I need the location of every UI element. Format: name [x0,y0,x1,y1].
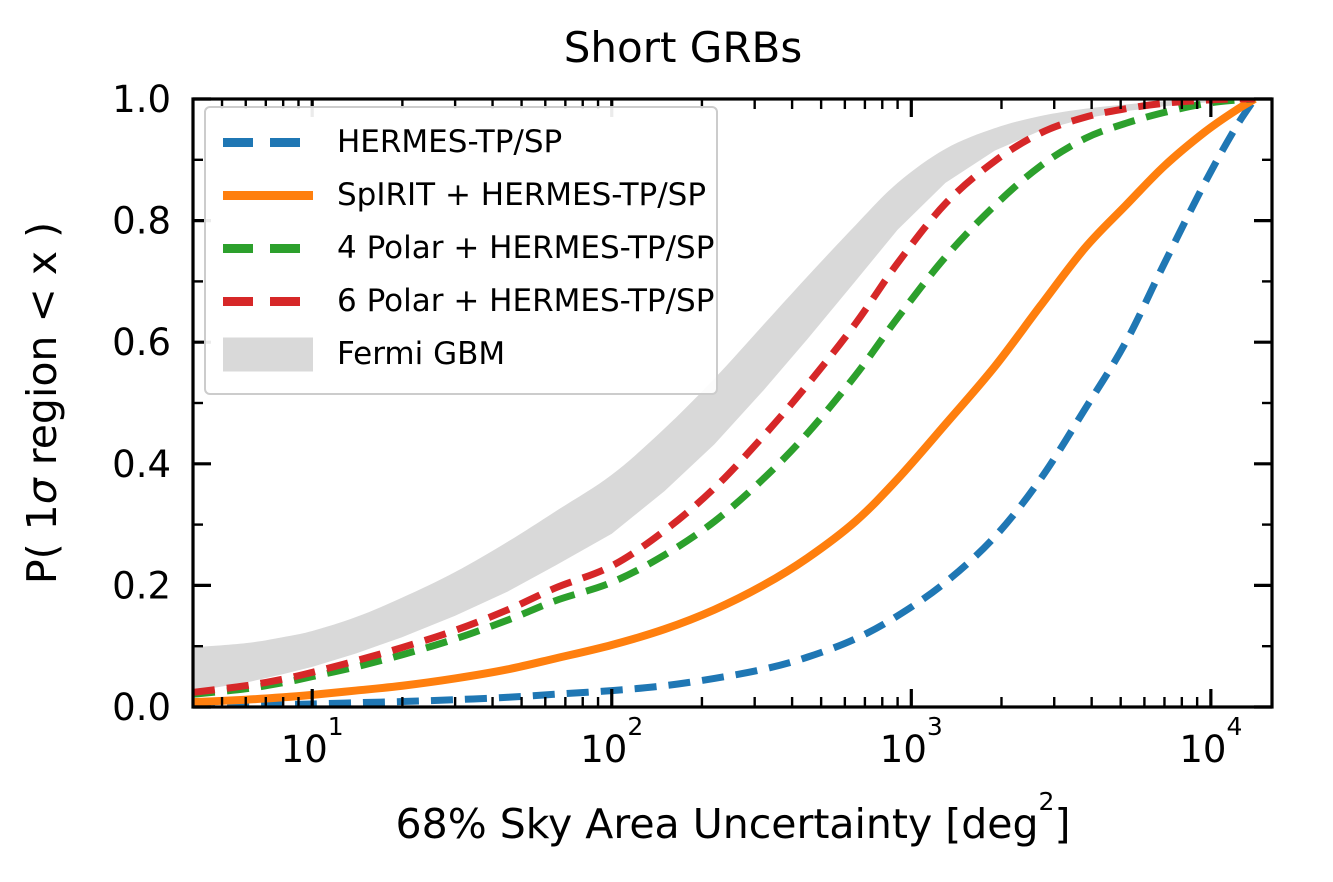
y-tick-label-2: 0.4 [112,443,171,486]
y-axis-label: P( 1σ region < x ) [18,222,66,584]
y-axis-label-pre: P( 1 [18,504,66,584]
legend-swatch-band-4 [223,338,313,372]
x-axis-label-text: 68% Sky Area Uncertainty [deg [396,800,1039,848]
y-axis-label-sigma: σ [18,476,66,504]
x-axis-label-exponent: 2 [1039,787,1055,816]
legend-label-2: 4 Polar + HERMES-TP/SP [337,230,714,266]
y-axis-label-post: region < x ) [18,222,66,478]
x-axis-label-tail: ] [1054,800,1070,848]
chart-title: Short GRBs [564,23,803,72]
legend-label-0: HERMES-TP/SP [337,124,562,160]
legend-label-3: 6 Polar + HERMES-TP/SP [337,283,714,319]
y-tick-label-0: 0.0 [112,686,171,729]
figure-container: Short GRBs 101102103104 0.00.20.40.60.81… [0,0,1333,882]
chart-canvas: Short GRBs 101102103104 0.00.20.40.60.81… [0,0,1333,882]
y-tick-label-4: 0.8 [112,200,171,243]
y-tick-label-5: 1.0 [112,78,171,121]
legend-label-4: Fermi GBM [337,336,505,372]
legend-label-1: SpIRIT + HERMES-TP/SP [337,177,706,213]
svg-text:P( 1σ region < x ): P( 1σ region < x ) [18,222,66,584]
y-tick-label-1: 0.2 [112,564,171,607]
y-tick-label-3: 0.6 [112,321,171,364]
chart-legend[interactable]: HERMES-TP/SPSpIRIT + HERMES-TP/SP4 Polar… [205,107,717,394]
